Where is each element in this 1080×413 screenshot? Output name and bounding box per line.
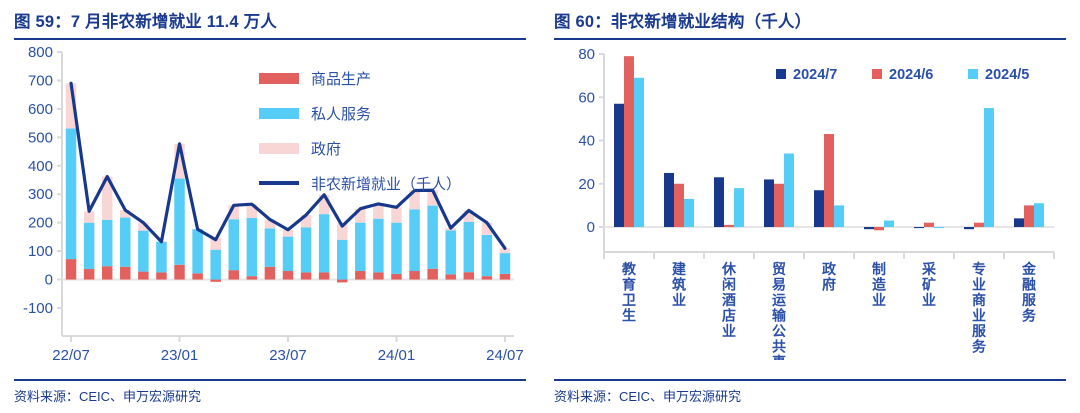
legend-label-2: 2024/6: [889, 67, 933, 83]
bar-private-services: [500, 253, 510, 274]
bar-private-services: [84, 223, 94, 269]
category-label-3: 休闲酒店业: [721, 261, 737, 339]
stacked-bar-group: [247, 204, 257, 279]
bar-private-services: [66, 129, 76, 260]
bar-2024-7: [964, 227, 974, 229]
bar-private-services: [301, 228, 311, 273]
bar-goods: [265, 267, 275, 280]
legend-label-3: 2024/5: [985, 67, 1029, 83]
grouped-bar-group: [714, 177, 744, 227]
bar-private-services: [247, 218, 257, 276]
y-tick-label: 700: [28, 72, 53, 89]
bar-private-services: [464, 222, 474, 272]
bar-government: [84, 211, 94, 222]
category-label-8: 专业商业服务: [972, 261, 987, 355]
bar-goods: [156, 272, 166, 279]
bar-2024-7: [614, 104, 624, 227]
category-label-4: 贸易运输公共事业: [772, 261, 787, 360]
bar-private-services: [229, 219, 239, 270]
bar-2024-6: [974, 223, 984, 227]
x-tick-label: 22/07: [52, 347, 90, 360]
bar-2024-6: [774, 184, 784, 227]
x-tick-label: 24/01: [378, 347, 416, 360]
legend-swatch-2: [872, 69, 882, 79]
category-label-2: 建筑业: [672, 261, 686, 308]
category-label-7: 采矿业: [921, 261, 937, 308]
grouped-bar-group: [1014, 203, 1044, 227]
bar-2024-5: [884, 221, 894, 227]
stacked-bar-group: [192, 229, 202, 279]
y-tick-label: 600: [28, 101, 53, 118]
x-tick-label: 23/01: [161, 347, 199, 360]
stacked-bar-group: [283, 230, 293, 280]
bar-2024-7: [714, 177, 724, 227]
grouped-bar-group: [764, 153, 794, 227]
legend-label-1: 2024/7: [793, 67, 837, 83]
bar-private-services: [156, 242, 166, 273]
stacked-bar-group: [120, 210, 130, 279]
stacked-bar-group: [301, 215, 311, 280]
legend-label-4: 非农新增就业（千人）: [311, 176, 461, 193]
bar-private-services: [482, 235, 492, 276]
bar-2024-6: [924, 223, 934, 227]
bar-goods: [247, 276, 257, 279]
grouped-bar-group: [614, 56, 644, 227]
bar-private-services: [192, 229, 202, 273]
bar-private-services: [373, 219, 383, 273]
bar-goods: [337, 280, 347, 283]
stacked-bar-group: [102, 177, 112, 280]
y-tick-label: 0: [587, 219, 595, 236]
legend-swatch-3: [259, 143, 299, 154]
figure-59-source: 资料来源：CEIC、申万宏源研究: [14, 386, 201, 405]
bar-goods: [229, 270, 239, 279]
bar-government: [391, 207, 401, 222]
bar-private-services: [427, 206, 437, 269]
bar-goods: [319, 272, 329, 279]
bar-private-services: [102, 220, 112, 266]
bar-goods: [427, 269, 437, 280]
bar-goods: [84, 269, 94, 280]
stacked-bar-group: [409, 191, 419, 280]
legend-swatch-1: [776, 69, 786, 79]
bar-2024-5: [634, 78, 644, 227]
figure-59-plot: -100010020030040050060070080022/0723/012…: [14, 40, 526, 360]
y-tick-label: -100: [23, 300, 53, 317]
bar-2024-5: [1034, 203, 1044, 227]
figure-60-title: 图 60：非农新增就业结构（千人）: [554, 0, 1066, 38]
bar-goods: [66, 259, 76, 279]
category-label-9: 金融服务: [1021, 261, 1037, 324]
y-tick-label: 40: [578, 133, 595, 150]
category-label-5: 政府: [822, 261, 837, 293]
bar-private-services: [174, 179, 184, 265]
stacked-bar-group: [464, 210, 474, 279]
legend-swatch-2: [259, 108, 299, 119]
bar-2024-7: [914, 227, 924, 228]
bar-2024-6: [674, 184, 684, 227]
figure-59-svg: -100010020030040050060070080022/0723/012…: [14, 40, 526, 360]
bar-2024-5: [684, 199, 694, 227]
figure-60-source-rule-wrap: [554, 379, 1066, 381]
legend-label-3: 政府: [311, 141, 341, 158]
bar-goods: [445, 274, 455, 279]
stacked-bar-group: [427, 190, 437, 279]
y-tick-label: 300: [28, 186, 53, 203]
y-tick-label: 80: [578, 46, 595, 63]
bar-goods: [138, 272, 148, 280]
bar-private-services: [283, 237, 293, 271]
bar-goods: [283, 271, 293, 280]
bar-2024-7: [764, 179, 774, 227]
category-label-1: 教育卫生: [622, 261, 637, 324]
bar-goods: [174, 265, 184, 280]
stacked-bar-group: [445, 228, 455, 279]
grouped-bar-group: [814, 134, 844, 227]
legend-label-1: 商品生产: [311, 71, 371, 88]
y-tick-label: 500: [28, 129, 53, 146]
bar-private-services: [120, 218, 130, 267]
bar-2024-7: [664, 173, 674, 227]
y-tick-label: 800: [28, 44, 53, 61]
bar-2024-6: [1024, 205, 1034, 227]
bar-2024-7: [814, 190, 824, 227]
stacked-bar-group: [500, 248, 510, 279]
bar-goods: [482, 276, 492, 279]
figure-59-panel: 图 59：7 月非农新增就业 11.4 万人 -1000100200300400…: [0, 0, 540, 413]
stacked-bar-group: [84, 211, 94, 279]
bar-2024-6: [824, 134, 834, 227]
legend-label-2: 私人服务: [311, 106, 371, 123]
bar-goods: [210, 280, 220, 282]
bar-goods: [355, 271, 365, 280]
stacked-bar-group: [229, 205, 239, 279]
bar-2024-5: [834, 205, 844, 227]
bar-private-services: [337, 240, 347, 280]
bar-goods: [373, 272, 383, 279]
stacked-bar-group: [156, 242, 166, 280]
bar-2024-7: [864, 227, 874, 229]
bar-goods: [409, 271, 419, 280]
stacked-bar-group: [319, 195, 329, 280]
bar-private-services: [409, 209, 419, 271]
y-tick-label: 20: [578, 176, 595, 193]
bar-goods: [391, 274, 401, 280]
bar-2024-6: [724, 225, 734, 227]
figure-60-svg: 020406080教育卫生建筑业休闲酒店业贸易运输公共事业政府制造业采矿业专业商…: [554, 40, 1066, 360]
y-tick-label: 100: [28, 243, 53, 260]
y-tick-label: 400: [28, 158, 53, 175]
bar-2024-6: [624, 56, 634, 227]
bar-goods: [102, 266, 112, 279]
bar-2024-5: [734, 188, 744, 227]
stacked-bar-group: [391, 207, 401, 279]
figure-59-source-rule-wrap: [14, 379, 526, 381]
figure-60-panel: 图 60：非农新增就业结构（千人） 020406080教育卫生建筑业休闲酒店业贸…: [540, 0, 1080, 413]
figure-60-plot: 020406080教育卫生建筑业休闲酒店业贸易运输公共事业政府制造业采矿业专业商…: [554, 40, 1066, 360]
x-tick-label: 23/07: [269, 347, 307, 360]
figures-page: 图 59：7 月非农新增就业 11.4 万人 -1000100200300400…: [0, 0, 1080, 413]
y-tick-label: 0: [45, 272, 53, 289]
bar-private-services: [265, 228, 275, 266]
bar-2024-7: [1014, 218, 1024, 227]
figure-59-source-rule: [14, 379, 526, 381]
stacked-bar-group: [373, 204, 383, 280]
bar-goods: [192, 273, 202, 279]
stacked-bar-group: [138, 223, 148, 280]
stacked-bar-group: [210, 237, 220, 281]
legend-swatch-3: [968, 69, 978, 79]
stacked-bar-group: [337, 223, 347, 282]
bar-2024-6: [874, 227, 884, 230]
stacked-bar-group: [265, 220, 275, 280]
bar-2024-5: [934, 227, 944, 228]
bar-2024-5: [984, 108, 994, 227]
figure-60-source-rule: [554, 379, 1066, 381]
bar-private-services: [445, 230, 455, 274]
stacked-bar-group: [355, 209, 365, 280]
bar-goods: [464, 272, 474, 279]
grouped-bar-group: [864, 221, 894, 231]
bar-2024-5: [784, 153, 794, 227]
bar-goods: [301, 272, 311, 279]
category-label-6: 制造业: [872, 261, 886, 308]
grouped-bar-group: [964, 108, 994, 229]
stacked-bar-group: [482, 223, 492, 280]
legend-swatch-1: [259, 73, 299, 84]
bar-goods: [500, 274, 510, 280]
bar-goods: [120, 267, 130, 280]
x-tick-label: 24/07: [486, 347, 524, 360]
figure-59-title: 图 59：7 月非农新增就业 11.4 万人: [14, 0, 526, 38]
figure-60-source: 资料来源：CEIC、申万宏源研究: [554, 386, 741, 405]
bar-private-services: [138, 231, 148, 272]
bar-private-services: [210, 250, 220, 280]
bar-private-services: [355, 223, 365, 271]
grouped-bar-group: [664, 173, 694, 227]
bar-private-services: [391, 223, 401, 274]
bar-private-services: [319, 214, 329, 272]
y-tick-label: 200: [28, 215, 53, 232]
y-tick-label: 60: [578, 89, 595, 106]
